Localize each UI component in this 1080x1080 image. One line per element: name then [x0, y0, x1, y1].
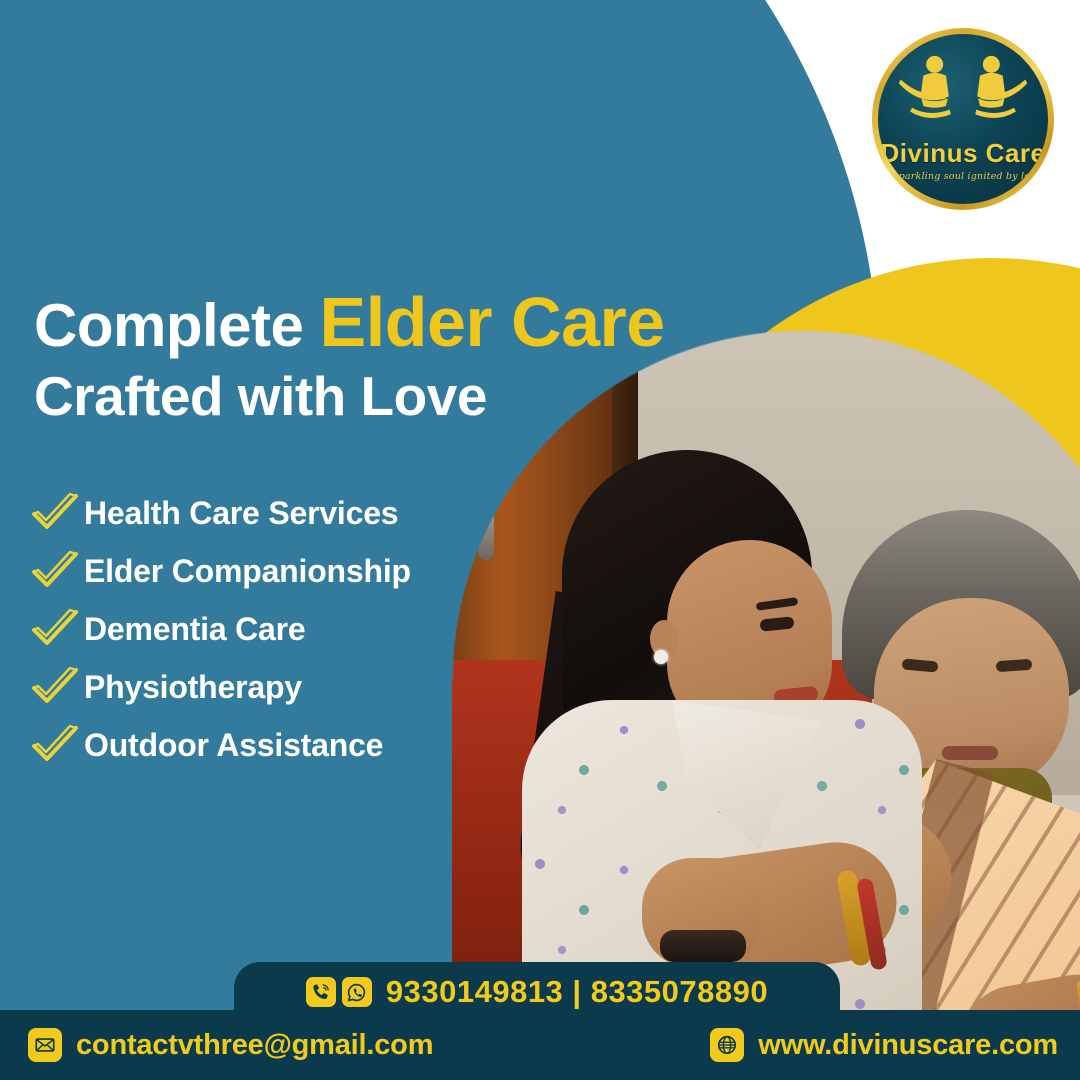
- caregiver-earring: [654, 650, 668, 664]
- headline: Complete Elder Care Crafted with Love: [34, 286, 714, 425]
- caregiver-watch: [660, 930, 746, 962]
- check-icon: [30, 608, 80, 650]
- list-item: Outdoor Assistance: [30, 716, 490, 774]
- brand-logo-inner: Divinus Care a sparkling soul ignited by…: [878, 34, 1048, 204]
- brand-logo[interactable]: Divinus Care a sparkling soul ignited by…: [872, 28, 1054, 210]
- rocking-chairs-icon: [878, 48, 1048, 126]
- headline-plain-text: Complete: [34, 292, 320, 359]
- headline-line-2: Crafted with Love: [34, 368, 714, 426]
- email-contact[interactable]: contactvthree@gmail.com: [28, 1028, 433, 1062]
- headline-highlight-text: Elder Care: [320, 283, 665, 361]
- service-label: Physiotherapy: [84, 669, 302, 706]
- envelope-glyph: [34, 1034, 56, 1056]
- service-label: Elder Companionship: [84, 553, 411, 590]
- phone-icons-group: [306, 977, 372, 1007]
- headline-line-1: Complete Elder Care: [34, 286, 714, 360]
- brand-logo-name: Divinus Care: [881, 138, 1046, 169]
- envelope-icon: [28, 1028, 62, 1062]
- footer-bar: contactvthree@gmail.com www.divinuscare.…: [0, 1010, 1080, 1080]
- service-label: Health Care Services: [84, 495, 398, 532]
- website-contact[interactable]: www.divinuscare.com: [710, 1028, 1058, 1062]
- list-item: Physiotherapy: [30, 658, 490, 716]
- check-icon: [30, 666, 80, 708]
- elder-mouth: [942, 746, 998, 760]
- globe-icon: [710, 1028, 744, 1062]
- phone-glyph: [310, 982, 331, 1003]
- brand-logo-tagline: a sparkling soul ignited by love: [884, 171, 1041, 182]
- website-text[interactable]: www.divinuscare.com: [758, 1029, 1058, 1062]
- services-list: Health Care Services Elder Companionship…: [30, 484, 490, 774]
- email-text[interactable]: contactvthree@gmail.com: [76, 1029, 433, 1062]
- list-item: Elder Companionship: [30, 542, 490, 600]
- whatsapp-glyph: [346, 982, 367, 1003]
- check-icon: [30, 492, 80, 534]
- phone-numbers[interactable]: 9330149813 | 8335078890: [386, 974, 768, 1010]
- list-item: Dementia Care: [30, 600, 490, 658]
- globe-glyph: [716, 1034, 738, 1056]
- poster-canvas: Divinus Care a sparkling soul ignited by…: [0, 0, 1080, 1080]
- service-label: Outdoor Assistance: [84, 727, 383, 764]
- phone-icon[interactable]: [306, 977, 336, 1007]
- list-item: Health Care Services: [30, 484, 490, 542]
- whatsapp-icon[interactable]: [342, 977, 372, 1007]
- service-label: Dementia Care: [84, 611, 306, 648]
- check-icon: [30, 724, 80, 766]
- check-icon: [30, 550, 80, 592]
